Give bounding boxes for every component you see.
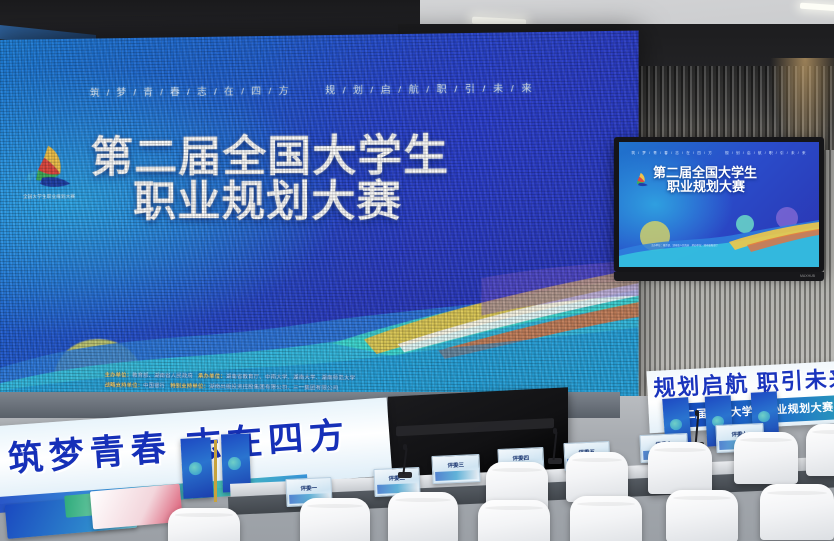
microphone-base bbox=[548, 458, 562, 464]
credits-label-host: 主办单位： bbox=[105, 372, 132, 378]
led-title-line1: 第二届全国大学生 bbox=[90, 132, 596, 179]
side-monitor-bezel-bottom bbox=[614, 272, 824, 281]
side-monitor-screen: 筑 / 梦 / 青 / 春 / 志 / 在 / 四 / 方 规 / 划 / 启 … bbox=[619, 142, 819, 267]
audience-chair bbox=[734, 432, 798, 484]
audience-chair bbox=[806, 424, 834, 476]
audience-chair bbox=[168, 508, 240, 541]
credits-value-organizer: 湖南省教育厅、中南大学、湖南大学、湖南师范大学 bbox=[226, 374, 356, 382]
credits-label-organizer: 承办单位： bbox=[198, 374, 226, 380]
nameplate: 评委三 bbox=[431, 454, 480, 484]
competition-logo: 全国大学生职业规划大赛 bbox=[18, 143, 80, 208]
led-subtitle-right: 规 / 划 / 启 / 航 / 职 / 引 / 未 / 来 bbox=[325, 83, 534, 97]
logo-caption: 全国大学生职业规划大赛 bbox=[14, 194, 84, 200]
microphone-capsule bbox=[553, 428, 557, 434]
audience-chair bbox=[760, 484, 834, 540]
desk-av-monitor-shelf bbox=[396, 418, 554, 436]
side-title-line2: 职业规划大赛 bbox=[667, 180, 803, 194]
led-main-title: 第二届全国大学生 职业规划大赛 bbox=[90, 132, 596, 224]
nameplate-label: 评委三 bbox=[433, 460, 479, 470]
nameplate-label: 评委二 bbox=[375, 473, 419, 483]
side-monitor-title: 第二届全国大学生 职业规划大赛 bbox=[653, 166, 803, 194]
audience-chair bbox=[388, 492, 458, 541]
side-monitor-subtitle: 筑 / 梦 / 青 / 春 / 志 / 在 / 四 / 方 规 / 划 / 启 … bbox=[619, 151, 819, 156]
side-title-line1: 第二届全国大学生 bbox=[653, 166, 803, 180]
side-subtitle-left: 筑 / 梦 / 青 / 春 / 志 / 在 / 四 / 方 bbox=[631, 151, 713, 155]
credits-label-special: 特别支持单位： bbox=[170, 383, 209, 390]
audience-chair bbox=[478, 500, 550, 541]
microphone-capsule bbox=[695, 410, 699, 416]
audience-chair bbox=[648, 442, 712, 494]
main-led-screen: 筑 / 梦 / 青 / 春 / 志 / 在 / 四 / 方 规 / 划 / 启 … bbox=[0, 31, 639, 410]
side-monitor-brand: MAXHUB bbox=[800, 274, 815, 278]
led-title-line2: 职业规划大赛 bbox=[133, 178, 597, 224]
audience-chair bbox=[570, 496, 642, 541]
decor-circle-teal bbox=[398, 325, 443, 367]
side-monitor-logo bbox=[631, 170, 651, 190]
microphone-base bbox=[398, 472, 412, 478]
audience-chair bbox=[300, 498, 370, 541]
side-subtitle-right: 规 / 划 / 启 / 航 / 职 / 引 / 未 / 来 bbox=[725, 151, 807, 155]
rollup-banner bbox=[180, 437, 213, 498]
audience-chair bbox=[666, 490, 738, 541]
microphone-capsule bbox=[403, 444, 407, 450]
side-display-monitor: 筑 / 梦 / 青 / 春 / 志 / 在 / 四 / 方 规 / 划 / 启 … bbox=[614, 137, 824, 272]
credits-value-host: 教育部、湖南省人民政府 bbox=[132, 373, 193, 380]
decor-circle-purple bbox=[531, 312, 592, 367]
nameplate-label: 评委一 bbox=[287, 483, 331, 493]
credits-label-strategic: 战略支持单位： bbox=[105, 382, 143, 389]
credits-value-special: 湖南出版投资控股集团有限公司、三一集团有限公司 bbox=[209, 384, 338, 392]
nameplate-art bbox=[435, 470, 477, 481]
credits-value-strategic: 中国银行 bbox=[143, 383, 165, 389]
audience-chair bbox=[566, 452, 628, 502]
side-monitor-credits: 主办单位：教育部、湖南省人民政府 承办单位：湖南省教育厅 bbox=[651, 244, 791, 248]
rollup-banner-pole bbox=[214, 440, 217, 502]
led-subtitle-left: 筑 / 梦 / 青 / 春 / 志 / 在 / 四 / 方 bbox=[90, 86, 291, 99]
photo-scene: 筑 / 梦 / 青 / 春 / 志 / 在 / 四 / 方 规 / 划 / 启 … bbox=[0, 0, 834, 541]
